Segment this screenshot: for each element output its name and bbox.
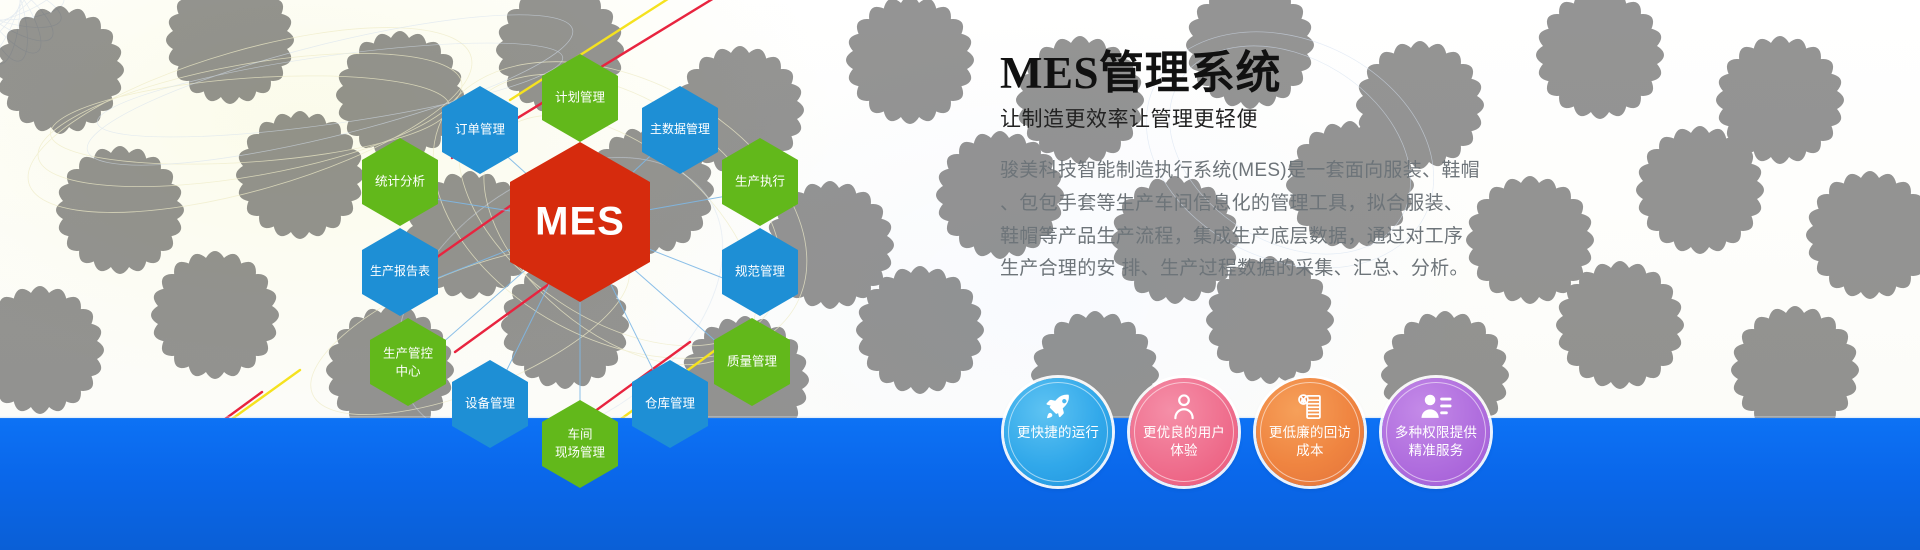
feature-badge-permissions-line2: 精准服务 bbox=[1388, 442, 1484, 460]
coins-icon bbox=[1296, 392, 1324, 422]
feature-badge-faster[interactable]: 更快捷的运行 bbox=[1004, 378, 1112, 486]
feature-badge-cost-line2: 成本 bbox=[1262, 442, 1358, 460]
description-line-1: 骏美科技智能制造执行系统(MES)是一套面向服装、鞋帽 bbox=[1000, 155, 1560, 188]
feature-badge-permissions-line1: 多种权限提供 bbox=[1388, 424, 1484, 442]
user-list-icon bbox=[1420, 392, 1452, 422]
bottom-blue-band bbox=[0, 418, 1920, 550]
hex-node-6[interactable]: 规范管理 bbox=[722, 228, 798, 316]
band-top-edge bbox=[0, 416, 1920, 419]
hex-nodes: 计划管理 订单管理 主数据管理 统计分析 bbox=[362, 54, 798, 488]
hex-node-0-label: 计划管理 bbox=[555, 89, 606, 104]
feature-badge-cost-caption: 更低廉的回访 成本 bbox=[1262, 424, 1358, 460]
hex-node-11-label2: 现场管理 bbox=[555, 444, 606, 459]
feature-badge-experience-line2: 体验 bbox=[1136, 442, 1232, 460]
hex-node-1[interactable]: 订单管理 bbox=[442, 86, 518, 174]
feature-badge-list: 更快捷的运行 更优良的用户 体验 bbox=[1004, 378, 1490, 486]
hex-node-center[interactable]: MES bbox=[510, 142, 650, 302]
feature-badge-faster-caption: 更快捷的运行 bbox=[1010, 424, 1106, 442]
hex-node-0[interactable]: 计划管理 bbox=[542, 54, 618, 142]
hex-node-8[interactable]: 质量管理 bbox=[714, 318, 790, 406]
hex-node-8-label: 质量管理 bbox=[727, 353, 778, 368]
banner-root: 计划管理 订单管理 主数据管理 统计分析 bbox=[0, 0, 1920, 550]
rocket-icon bbox=[1043, 392, 1073, 422]
hex-node-2-label: 主数据管理 bbox=[650, 121, 710, 136]
feature-badge-experience[interactable]: 更优良的用户 体验 bbox=[1130, 378, 1238, 486]
hex-node-2[interactable]: 主数据管理 bbox=[642, 86, 718, 174]
hex-node-10-label: 仓库管理 bbox=[645, 395, 696, 410]
description-line-4: 生产合理的安 排、生产过程数据的采集、汇总、分析。 bbox=[1000, 253, 1560, 286]
feature-badge-cost[interactable]: 更低廉的回访 成本 bbox=[1256, 378, 1364, 486]
hex-node-5-label: 生产报告表 bbox=[370, 263, 430, 278]
hex-node-3[interactable]: 统计分析 bbox=[362, 138, 438, 226]
feature-badge-experience-caption: 更优良的用户 体验 bbox=[1136, 424, 1232, 460]
feature-badge-experience-line1: 更优良的用户 bbox=[1136, 424, 1232, 442]
description-line-3: 鞋帽等产品生产流程，集成生产底层数据，通过对工序 bbox=[1000, 221, 1560, 254]
page-subtitle: 让制造更效率让管理更轻便 bbox=[1000, 103, 1600, 133]
hex-node-9-label: 设备管理 bbox=[465, 395, 516, 410]
feature-badge-faster-line1: 更快捷的运行 bbox=[1010, 424, 1106, 442]
hex-node-1-label: 订单管理 bbox=[455, 121, 506, 136]
hex-node-7[interactable]: 生产管控 中心 bbox=[370, 318, 446, 406]
hex-node-4[interactable]: 生产执行 bbox=[722, 138, 798, 226]
mes-center-label: MES bbox=[535, 200, 625, 244]
hex-node-7-label: 生产管控 bbox=[383, 345, 434, 360]
hex-node-4-label: 生产执行 bbox=[735, 174, 785, 188]
user-icon bbox=[1170, 392, 1198, 422]
description-paragraph: 骏美科技智能制造执行系统(MES)是一套面向服装、鞋帽 、包包手套等生产车间信息… bbox=[1000, 155, 1560, 286]
page-title: MES管理系统 bbox=[1000, 50, 1600, 97]
description-line-2: 、包包手套等生产车间信息化的管理工具，拟合服装、 bbox=[1000, 188, 1560, 221]
mes-hex-diagram: 计划管理 订单管理 主数据管理 统计分析 bbox=[360, 12, 800, 432]
feature-badge-cost-line1: 更低廉的回访 bbox=[1262, 424, 1358, 442]
hex-node-7-label2: 中心 bbox=[395, 363, 421, 378]
feature-badge-permissions-caption: 多种权限提供 精准服务 bbox=[1388, 424, 1484, 460]
hex-node-11-label: 车间 bbox=[567, 426, 592, 441]
feature-badge-permissions[interactable]: 多种权限提供 精准服务 bbox=[1382, 378, 1490, 486]
hex-node-5[interactable]: 生产报告表 bbox=[362, 228, 438, 316]
hex-node-6-label: 规范管理 bbox=[735, 263, 786, 278]
hex-node-3-label: 统计分析 bbox=[375, 174, 425, 188]
banner-content: MES管理系统 让制造更效率让管理更轻便 骏美科技智能制造执行系统(MES)是一… bbox=[1000, 50, 1600, 286]
